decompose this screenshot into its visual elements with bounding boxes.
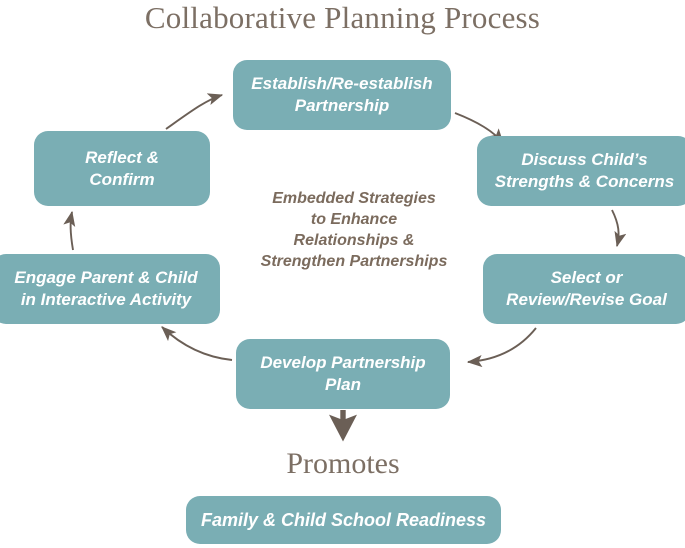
connector-select-to-develop <box>468 328 536 362</box>
connector-reflect-to-establish <box>166 95 222 129</box>
node-reflect-confirm[interactable]: Reflect & Confirm <box>34 131 210 206</box>
node-readiness-label: Family & Child School Readiness <box>194 509 493 531</box>
node-discuss-label: Discuss Child’s Strengths & Concerns <box>485 149 684 193</box>
connector-engage-to-reflect <box>71 212 73 250</box>
connector-develop-to-engage <box>162 327 232 360</box>
node-select-review-goal[interactable]: Select or Review/Revise Goal <box>483 254 685 324</box>
node-engage-parent-child[interactable]: Engage Parent & Child in Interactive Act… <box>0 254 220 324</box>
node-select-label: Select or Review/Revise Goal <box>491 267 682 311</box>
node-reflect-label: Reflect & Confirm <box>42 147 202 191</box>
node-develop-label: Develop Partnership Plan <box>244 352 442 396</box>
node-family-child-school-readiness[interactable]: Family & Child School Readiness <box>186 496 501 544</box>
page-title: Collaborative Planning Process <box>0 0 685 36</box>
node-discuss-child-strengths[interactable]: Discuss Child’s Strengths & Concerns <box>477 136 685 206</box>
center-caption: Embedded Strategies to Enhance Relations… <box>228 188 480 272</box>
node-establish-partnership[interactable]: Establish/Re-establish Partnership <box>233 60 451 130</box>
node-develop-partnership-plan[interactable]: Develop Partnership Plan <box>236 339 450 409</box>
node-establish-label: Establish/Re-establish Partnership <box>241 73 443 117</box>
diagram-canvas: Collaborative Planning Process Establish… <box>0 0 685 548</box>
node-engage-label: Engage Parent & Child in Interactive Act… <box>0 267 212 311</box>
promotes-caption: Promotes <box>233 447 453 481</box>
connector-discuss-to-select <box>612 210 619 246</box>
